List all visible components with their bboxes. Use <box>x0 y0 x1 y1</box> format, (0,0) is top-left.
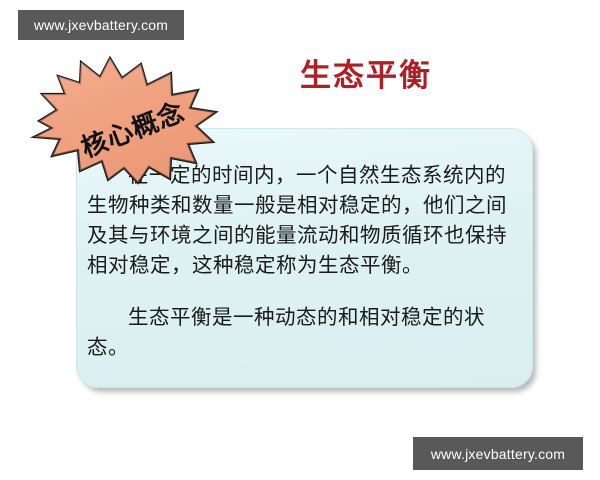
panel-text-block: 在一定的时间内，一个自然生态系统内的生物种类和数量一般是相对稳定的，他们之间及其… <box>87 161 520 363</box>
watermark-top: www.jxevbattery.com <box>18 10 184 40</box>
page-title: 生态平衡 <box>300 60 432 91</box>
paragraph-state: 生态平衡是一种动态的和相对稳定的状态。 <box>87 303 520 363</box>
starburst-icon <box>30 58 220 183</box>
core-concept-badge: 核心概念 <box>30 58 220 183</box>
watermark-bottom: www.jxevbattery.com <box>413 437 583 470</box>
